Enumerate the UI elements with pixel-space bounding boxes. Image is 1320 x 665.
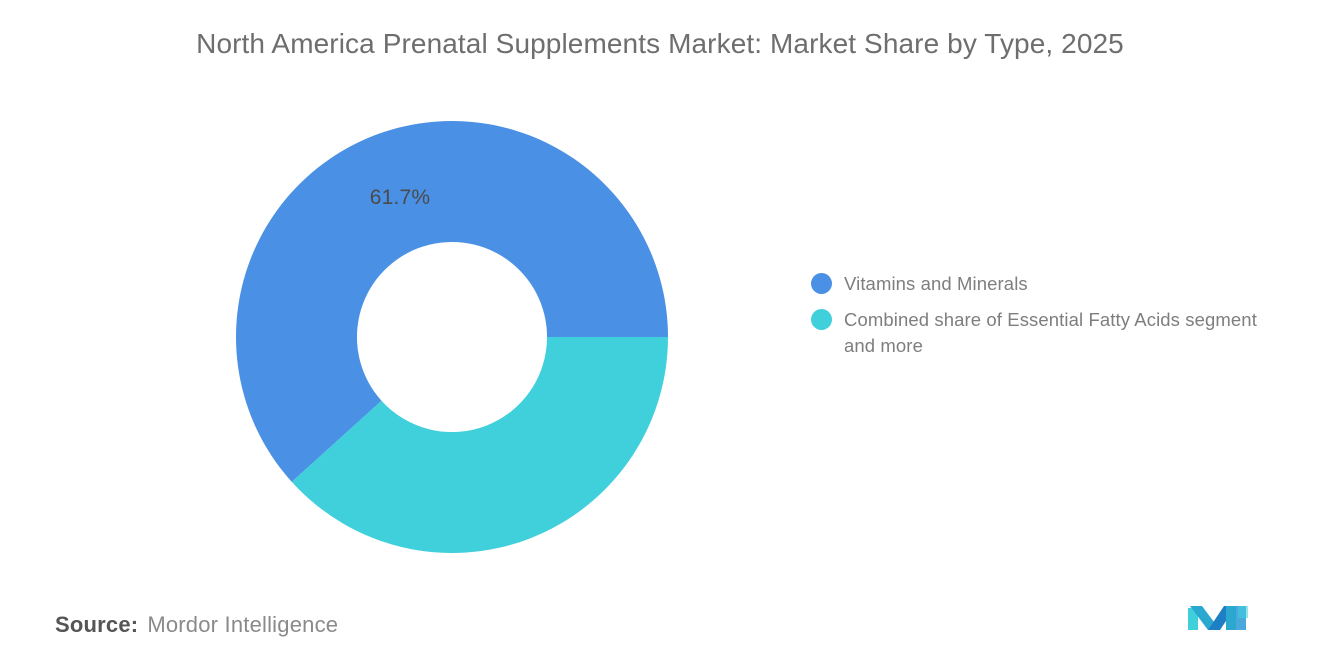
legend-item-label: Combined share of Essential Fatty Acids …: [844, 307, 1264, 359]
source-value: Mordor Intelligence: [147, 612, 338, 638]
mordor-intelligence-logo-icon: [1184, 598, 1254, 636]
legend-item-combined-share[interactable]: Combined share of Essential Fatty Acids …: [811, 307, 1281, 359]
chart-legend: Vitamins and Minerals Combined share of …: [811, 271, 1281, 369]
brand-logo-svg: [1184, 598, 1254, 636]
legend-item-label: Vitamins and Minerals: [844, 271, 1028, 297]
slice-data-label-vitamins-and-minerals: 61.7%: [338, 186, 462, 210]
legend-item-vitamins-and-minerals[interactable]: Vitamins and Minerals: [811, 271, 1281, 297]
source-attribution: Source: Mordor Intelligence: [55, 612, 338, 638]
legend-color-swatch-icon: [811, 309, 832, 330]
legend-color-swatch-icon: [811, 273, 832, 294]
source-label: Source:: [55, 612, 138, 638]
chart-title: North America Prenatal Supplements Marke…: [0, 28, 1320, 60]
